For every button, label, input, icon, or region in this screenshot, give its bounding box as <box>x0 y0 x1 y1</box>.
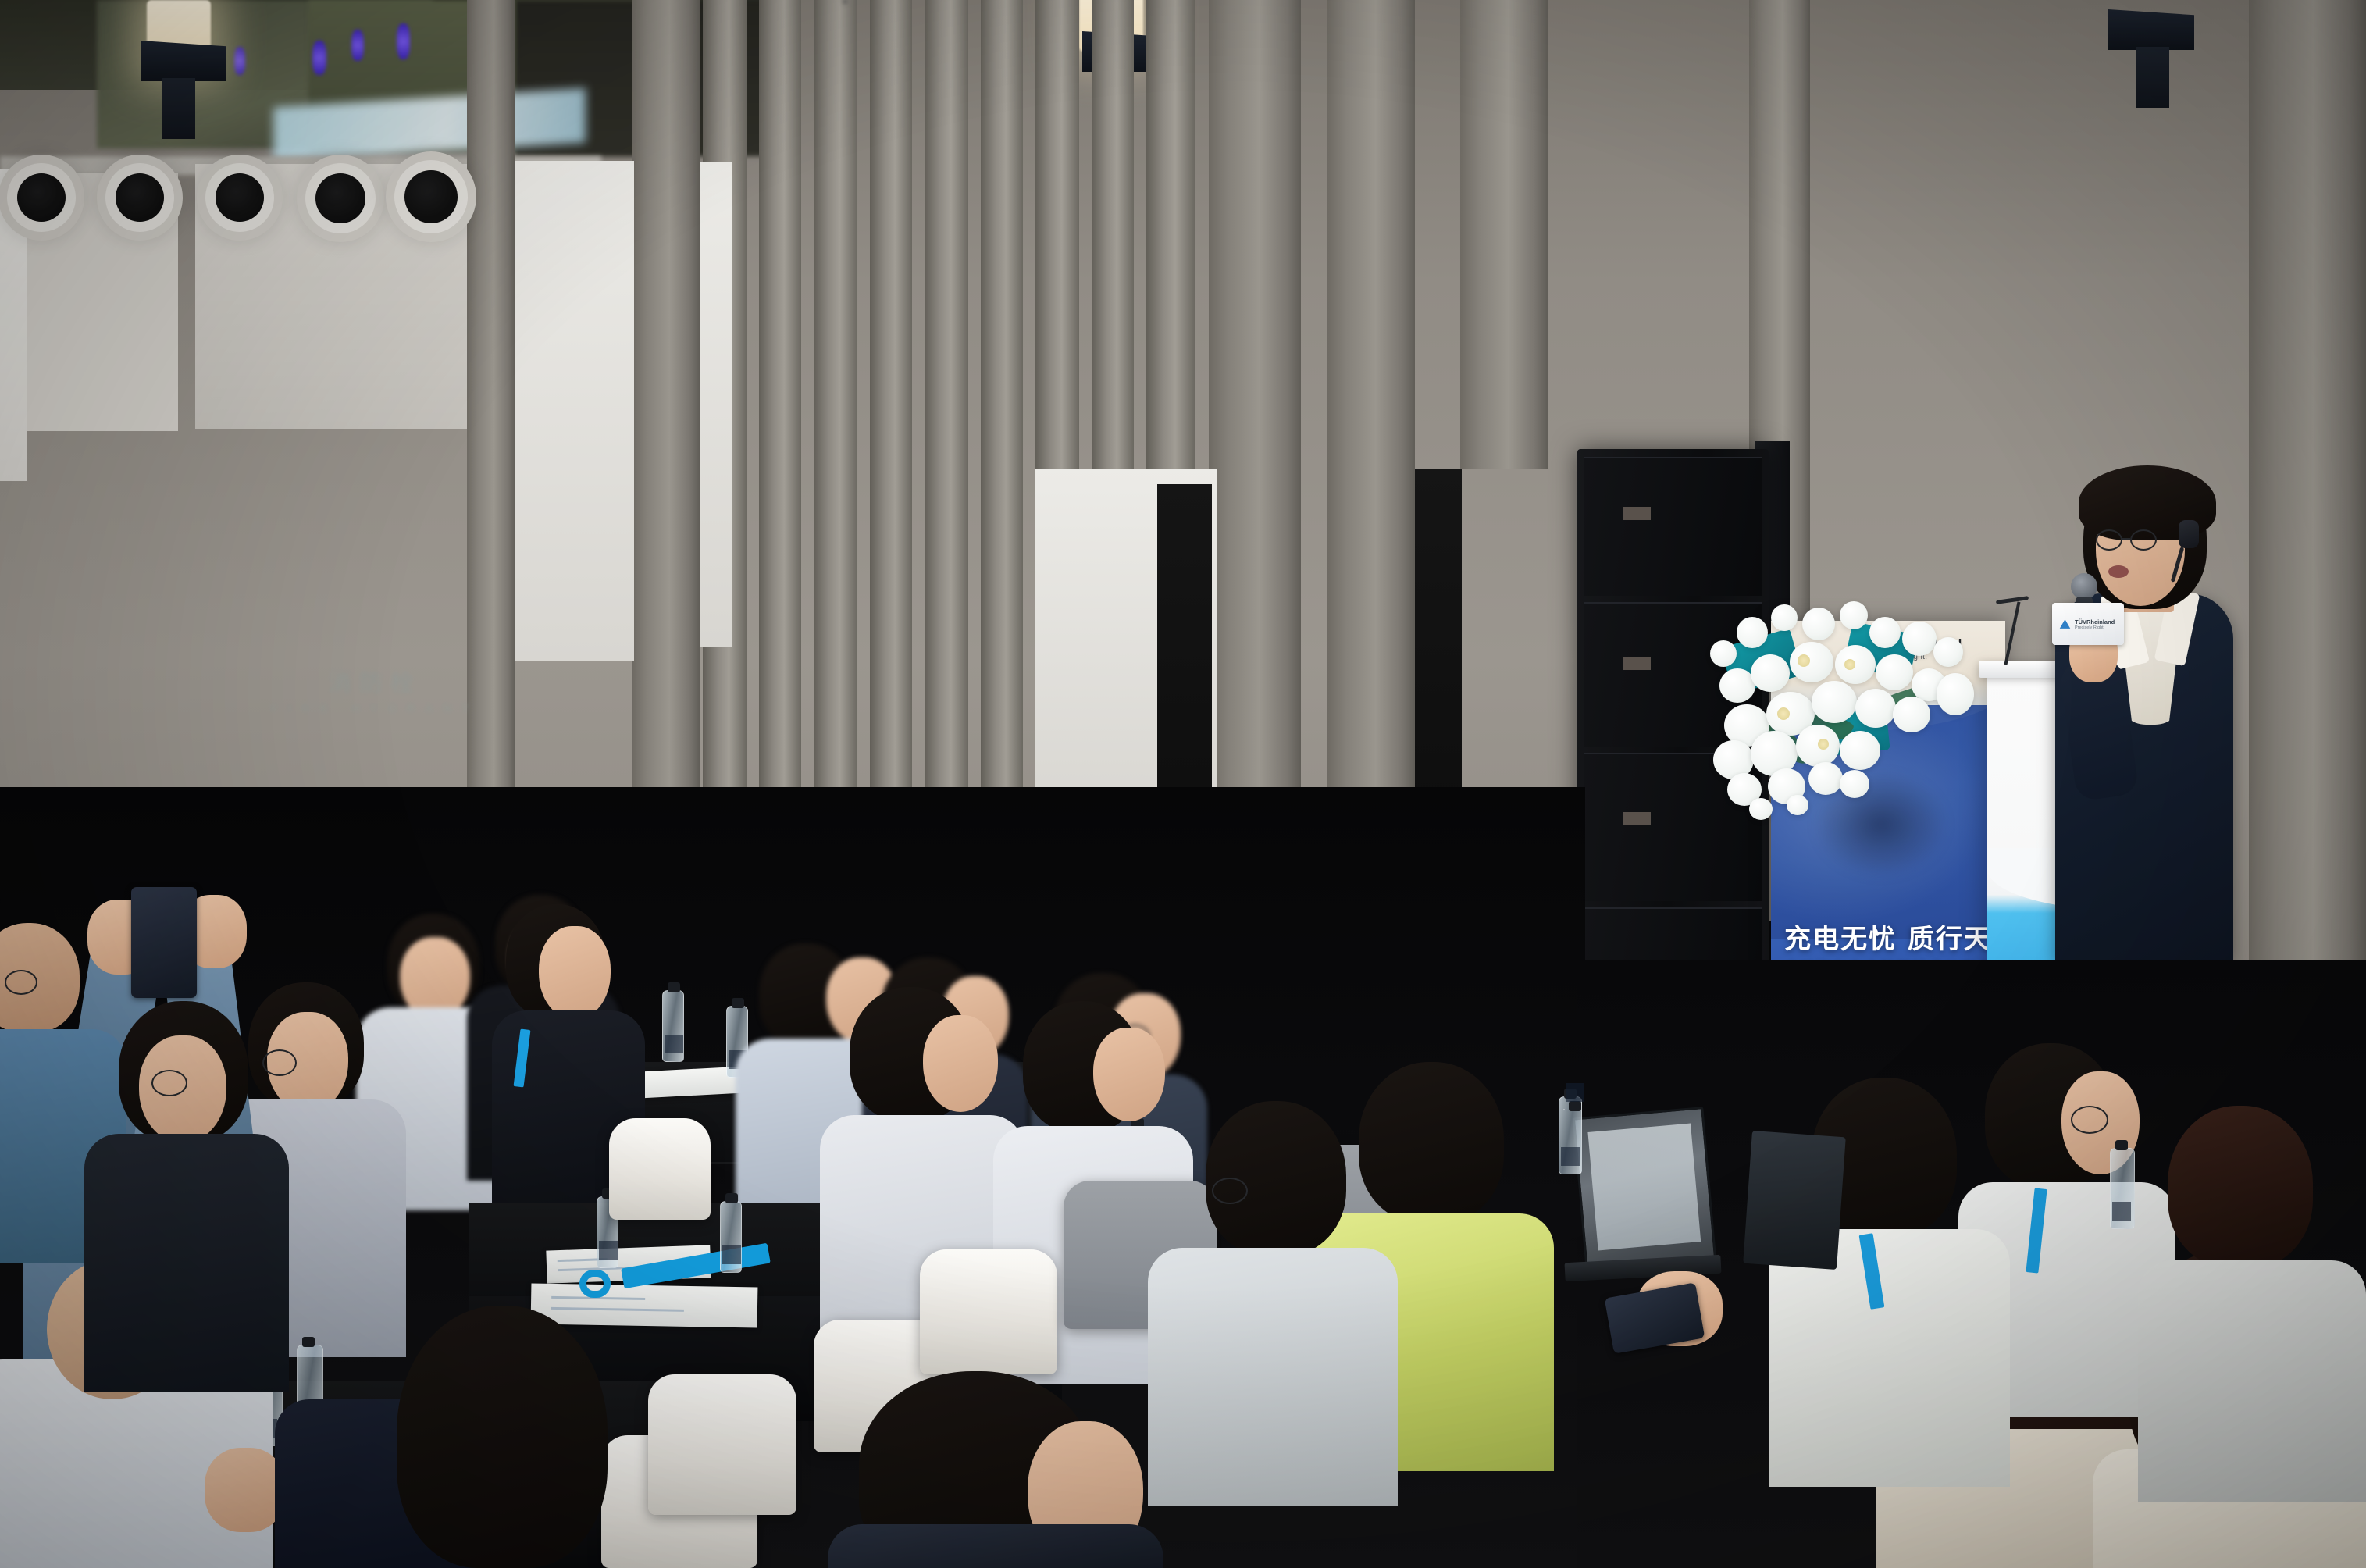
porthole-vent-4 <box>315 173 365 223</box>
wall-panel-narrow <box>700 162 732 647</box>
presenter-mouth <box>2108 565 2129 578</box>
audience-tablet[interactable] <box>1743 1131 1846 1270</box>
chair-cover-near-2 <box>648 1374 796 1515</box>
wall-sconce-shade-1 <box>141 41 226 81</box>
photographer-phone[interactable] <box>131 887 197 998</box>
accent-light-1 <box>312 41 326 75</box>
handheld-mic-head <box>2071 573 2097 600</box>
porthole-vent-3 <box>216 173 264 222</box>
wall-sconce-shade-3 <box>2108 9 2194 50</box>
fire-hydrant-sign-en: FIRE HYDRANT <box>258 702 492 715</box>
wall-sconce-stem-3 <box>2136 47 2169 108</box>
water-bottle-far-1 <box>662 990 684 1062</box>
water-bottle-spacer <box>1563 1109 1565 1110</box>
porthole-vent-5 <box>404 170 458 223</box>
audience-glasses-gray-tee <box>1212 1178 1248 1204</box>
mic-flag-triangle-icon <box>2059 618 2071 629</box>
chair-cover-mid-2 <box>920 1249 1057 1374</box>
water-bottle-mid-3 <box>720 1201 742 1273</box>
presenter-glasses-left <box>2096 529 2122 551</box>
fire-hydrant-sign-cn: 消防栓 <box>258 664 492 698</box>
laptop-document-content <box>1587 1124 1701 1251</box>
accent-light-2 <box>351 30 364 61</box>
mic-logo-flag: TÜVRheinland Precisely Right. <box>2052 603 2124 645</box>
wall-panel-edge <box>0 169 27 481</box>
water-bottle-right-1 <box>2110 1148 2135 1229</box>
fire-hydrant-sign: 消防栓 FIRE HYDRANT <box>258 664 492 715</box>
concrete-column-5 <box>1460 0 1548 469</box>
mic-flag-tagline: Precisely Right. <box>2075 625 2115 630</box>
audience-glasses-right-1 <box>2071 1106 2108 1134</box>
concrete-column-1 <box>467 0 515 906</box>
porthole-vent-2 <box>116 173 164 222</box>
headset-mic-earpiece <box>2179 520 2199 548</box>
audience-laptop-screen[interactable] <box>1573 1107 1716 1270</box>
conference-photo-scene: 消防栓 FIRE HYDRANT TÜVRheinland Precisely … <box>0 0 2366 1568</box>
wall-sconce-stem-1 <box>162 78 195 139</box>
porthole-vent-1 <box>17 173 66 222</box>
chair-cover-far-1 <box>609 1118 711 1220</box>
wall-panel-mid <box>515 161 634 661</box>
mic-flag-brand: TÜVRheinland <box>2075 618 2115 625</box>
accent-light-4 <box>234 47 245 75</box>
orchid-flower-arrangement <box>1702 593 1983 828</box>
lanyard-loop <box>579 1270 611 1298</box>
presenter-glasses-bridge <box>2122 538 2130 540</box>
handout-mid-2 <box>531 1283 758 1327</box>
accent-light-3 <box>397 23 410 59</box>
presenter-glasses-right <box>2130 529 2157 551</box>
